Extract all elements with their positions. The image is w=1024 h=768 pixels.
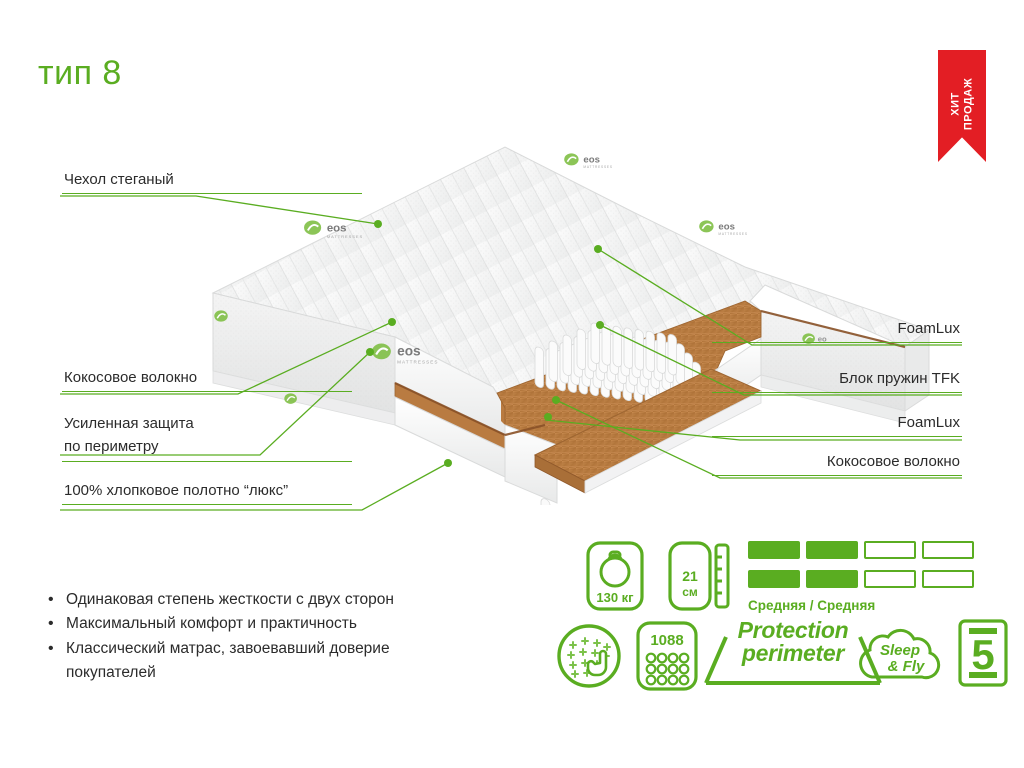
protection-line-1: Protection <box>738 617 849 643</box>
badge-spring-count: 1088 <box>636 621 698 696</box>
badge-height: 21 см <box>668 541 730 616</box>
callout-rule <box>712 436 962 437</box>
callout-rule <box>62 391 352 392</box>
svg-text:MATTRESSES: MATTRESSES <box>718 232 747 236</box>
firmness-bar <box>922 570 974 588</box>
bestseller-ribbon: ХИТ ПРОДАЖ <box>938 50 986 162</box>
callout-foamlux-bottom-label: FoamLux <box>712 413 962 436</box>
ribbon-text: ХИТ ПРОДАЖ <box>949 78 974 130</box>
callout-springs: Блок пружин TFK <box>712 369 962 393</box>
callout-foamlux-bottom: FoamLux <box>712 413 962 437</box>
firmness-bars <box>748 541 980 599</box>
sleep-fly-line-1: Sleep <box>880 642 920 659</box>
badge-warranty-years: 5 <box>958 619 1008 692</box>
badge-height-unit: см <box>682 585 698 599</box>
callout-rule <box>712 475 962 476</box>
callout-perimeter-label-1: Усиленная защита <box>62 414 352 437</box>
list-item-continuation-text: покупателей <box>66 664 156 681</box>
kettlebell-icon <box>601 552 629 586</box>
callout-coconut-bottom: Кокосовое волокно <box>712 452 962 476</box>
firmness-bar <box>864 541 916 559</box>
list-item-continuation: покупателей <box>44 661 484 685</box>
list-item: Одинаковая степень жесткости с двух стор… <box>44 588 484 612</box>
infographic-page: тип 8 ХИТ ПРОДАЖ <box>0 0 1024 768</box>
callout-cover-label: Чехол стеганый <box>62 170 362 193</box>
badge-sleep-and-fly: Sleep & Fly <box>852 625 948 692</box>
callout-cover: Чехол стеганый <box>62 170 362 194</box>
callout-rule <box>62 504 352 505</box>
firmness-bar <box>748 570 800 588</box>
firmness-bar <box>864 570 916 588</box>
springs-grid-icon <box>647 654 689 685</box>
hand-touch-icon <box>588 651 606 675</box>
svg-text:eos: eos <box>583 155 600 166</box>
callout-coconut-bottom-label: Кокосовое волокно <box>712 452 962 475</box>
firmness-row-top <box>748 541 980 570</box>
warranty-years-value: 5 <box>971 631 994 678</box>
callout-rule <box>712 392 962 393</box>
ruler-icon <box>716 545 728 607</box>
svg-text:MATTRESSES: MATTRESSES <box>397 359 438 364</box>
page-title: тип 8 <box>38 56 122 90</box>
svg-text:eos: eos <box>397 344 421 359</box>
badge-surface-texture <box>556 623 622 694</box>
callout-springs-label: Блок пружин TFK <box>712 369 962 392</box>
callout-rule <box>712 342 962 343</box>
firmness-bar <box>922 541 974 559</box>
firmness-row-bottom <box>748 570 980 599</box>
list-item: Максимальный комфорт и практичность <box>44 612 484 636</box>
sleep-fly-line-2: & Fly <box>888 658 925 675</box>
badge-height-value: 21 <box>682 568 698 584</box>
badge-spring-count-value: 1088 <box>650 632 683 649</box>
badge-max-weight: 130 кг <box>586 541 644 616</box>
badge-max-weight-value: 130 кг <box>596 590 634 605</box>
list-item: Классический матрас, завоевавший доверие <box>44 637 484 661</box>
callout-rule <box>62 461 352 462</box>
callout-rule <box>62 193 362 194</box>
callout-foamlux-top: FoamLux <box>712 319 962 343</box>
svg-text:MATTRESSES: MATTRESSES <box>327 234 363 239</box>
firmness-bar <box>806 570 858 588</box>
callout-cotton: 100% хлопковое полотно “люкс” <box>62 481 352 505</box>
callout-coconut-left: Кокосовое волокно <box>62 368 352 392</box>
spec-badges: 130 кг 21 см Средняя / Средняя <box>520 525 1024 700</box>
firmness-label: Средняя / Средняя <box>748 598 875 613</box>
callout-foamlux-top-label: FoamLux <box>712 319 962 342</box>
ribbon-line-1: ХИТ <box>949 78 962 130</box>
firmness-bar <box>748 541 800 559</box>
firmness-bar <box>806 541 858 559</box>
svg-text:MATTRESSES: MATTRESSES <box>583 165 612 169</box>
svg-text:eos: eos <box>327 222 347 234</box>
feature-list: Одинаковая степень жесткости с двух стор… <box>44 588 484 686</box>
callout-coconut-left-label: Кокосовое волокно <box>62 368 352 391</box>
callout-perimeter: Усиленная защита по периметру <box>62 414 352 462</box>
ribbon-line-2: ПРОДАЖ <box>962 78 975 130</box>
svg-text:eos: eos <box>718 222 735 233</box>
callout-cotton-label: 100% хлопковое полотно “люкс” <box>62 481 352 504</box>
callout-perimeter-label-2: по периметру <box>62 437 352 460</box>
